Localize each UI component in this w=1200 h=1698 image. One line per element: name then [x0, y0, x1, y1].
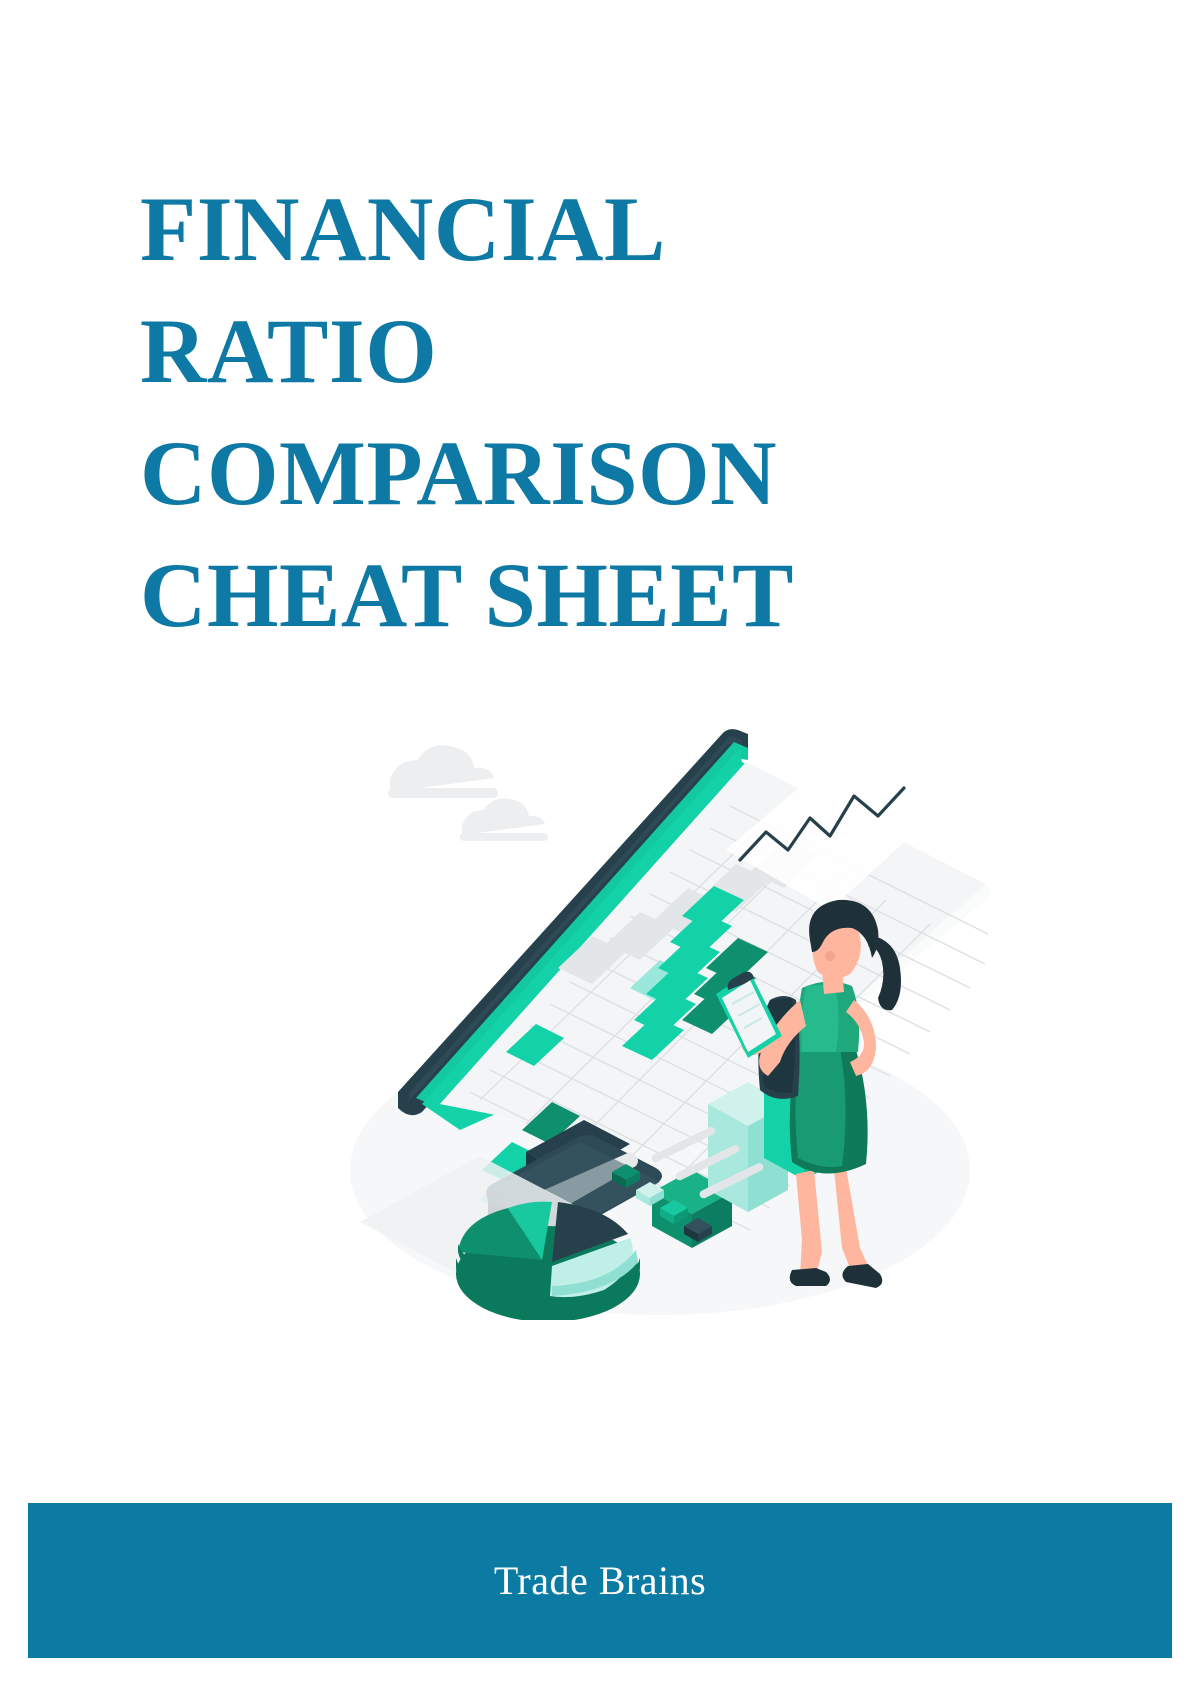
page-title: FINANCIAL RATIO COMPARISON CHEAT SHEET	[140, 168, 930, 656]
footer-bar: Trade Brains	[28, 1503, 1172, 1658]
cover-page: FINANCIAL RATIO COMPARISON CHEAT SHEET	[0, 0, 1200, 1698]
title-line-1: FINANCIAL	[140, 168, 930, 290]
cloud-icon-small	[460, 798, 548, 841]
title-line-4: CHEAT SHEET	[140, 534, 930, 656]
title-line-3: COMPARISON	[140, 412, 930, 534]
data-analysis-illustration	[330, 700, 990, 1320]
brand-name: Trade Brains	[494, 1557, 706, 1604]
cloud-icon-large	[388, 745, 498, 798]
title-line-2: RATIO	[140, 290, 930, 412]
